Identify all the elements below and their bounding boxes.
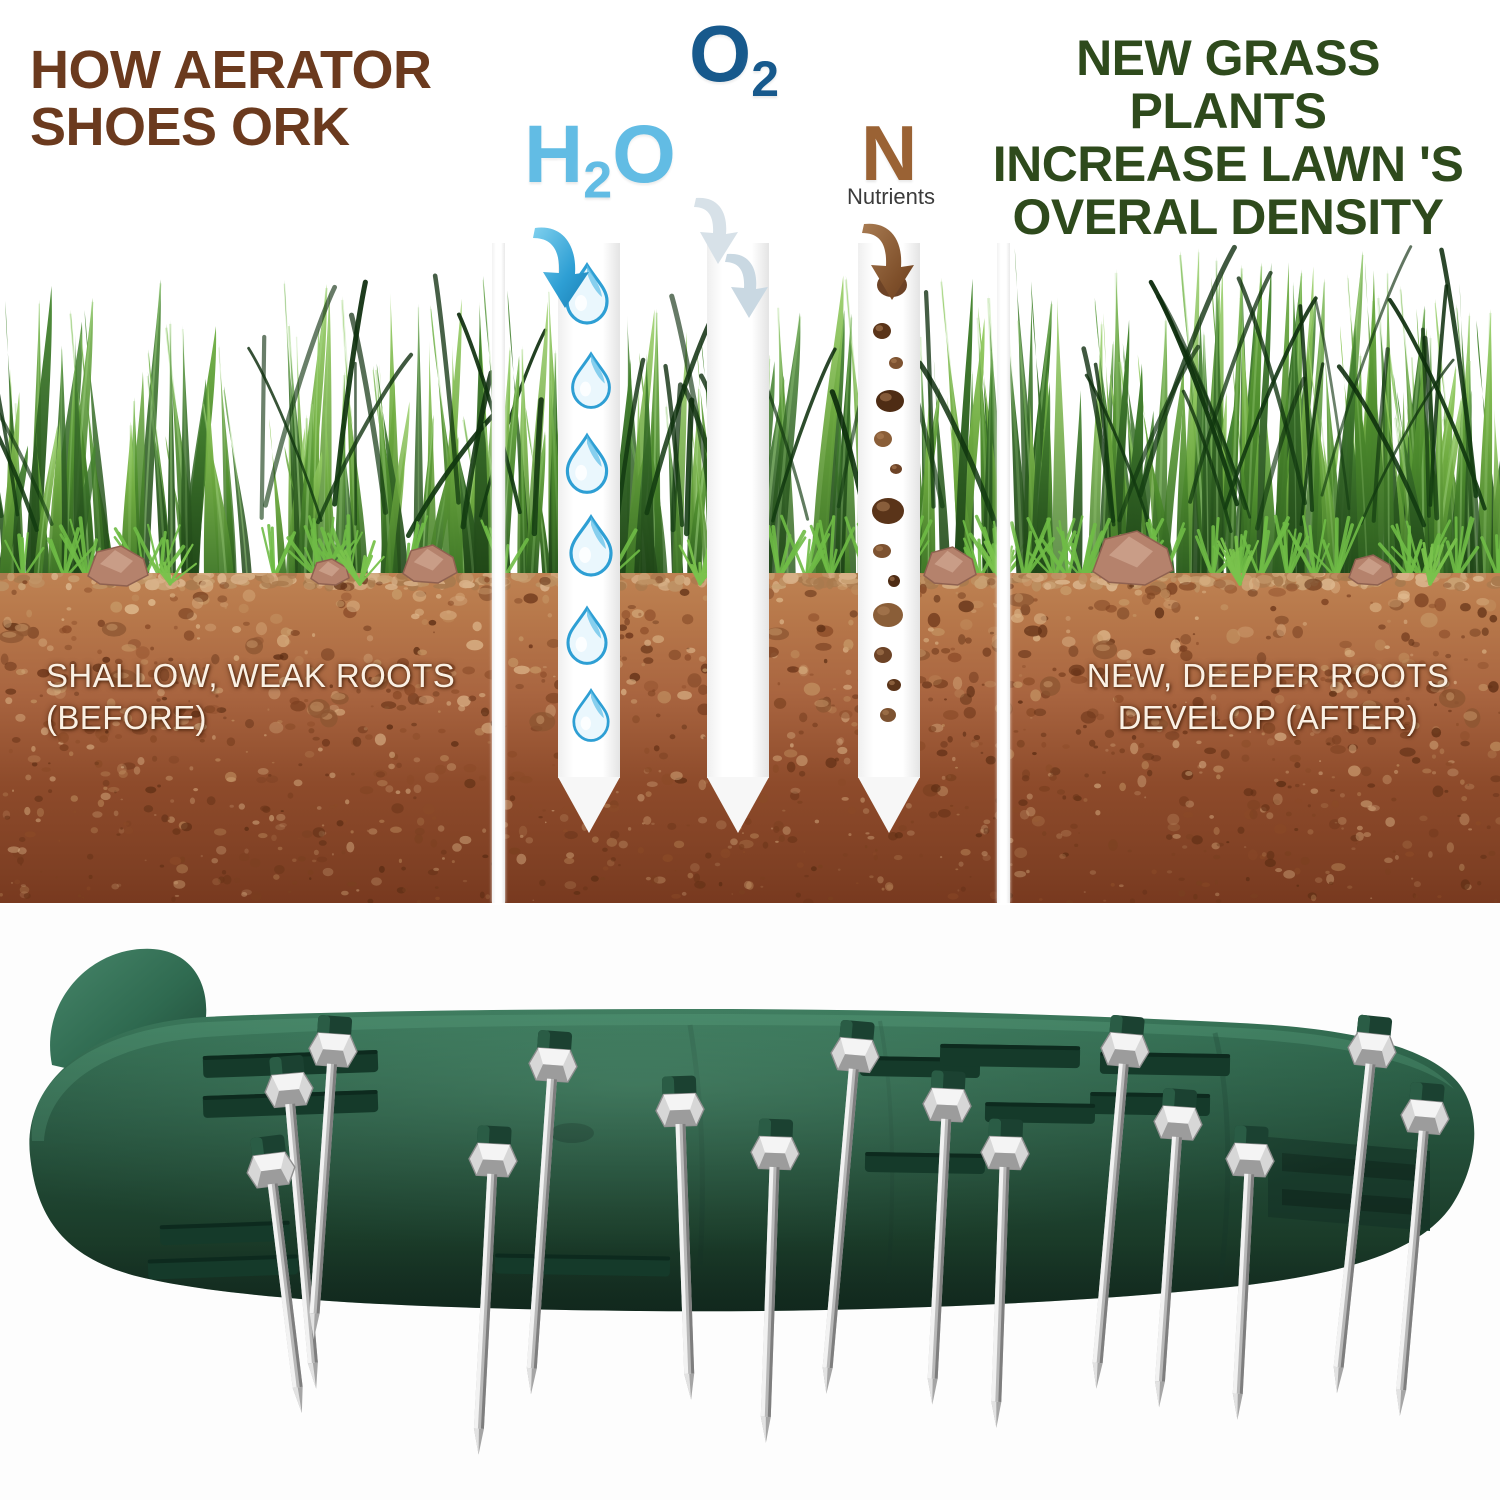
- page-title-right: NEW GRASS PLANTS INCREASE LAWN 'S OVERAL…: [978, 32, 1478, 244]
- h2o-h: H: [524, 109, 583, 200]
- o2-subscript: 2: [751, 51, 779, 107]
- water-droplets: [558, 243, 620, 803]
- aeration-channel-water: [558, 243, 620, 833]
- o2-o: O: [689, 9, 751, 98]
- nutrient-arrow-icon: [850, 218, 922, 306]
- o2-label: O2: [689, 14, 779, 104]
- nutrient-pellets: [858, 243, 920, 803]
- oxygen-arrow-icon-2: [716, 248, 774, 324]
- soil-caption-before: SHALLOW, WEAK ROOTS (BEFORE): [46, 655, 476, 739]
- nutrients-caption: Nutrients: [826, 184, 956, 210]
- aeration-channel-nutrients: [858, 243, 920, 833]
- h2o-o: O: [612, 109, 676, 200]
- page-title-left: HOW AERATOR SHOES ORK: [30, 42, 470, 156]
- h2o-subscript: 2: [583, 152, 612, 210]
- aerator-shoe-sole-illustration: [0, 905, 1500, 1500]
- aeration-diagram: HOW AERATOR SHOES ORK NEW GRASS PLANTS I…: [0, 0, 1500, 905]
- soil-caption-after: NEW, DEEPER ROOTS DEVELOP (AFTER): [1068, 655, 1468, 739]
- h2o-label: H2O: [524, 114, 676, 207]
- infographic-page: HOW AERATOR SHOES ORK NEW GRASS PLANTS I…: [0, 0, 1500, 1500]
- water-arrow-icon: [519, 222, 597, 314]
- product-photo-aerator-shoe: [0, 905, 1500, 1500]
- aeration-channel-oxygen: [707, 243, 769, 833]
- nitrogen-label: N: [861, 114, 917, 192]
- aeration-channel-plain-left: [492, 243, 505, 903]
- aeration-channel-plain-right: [997, 243, 1010, 903]
